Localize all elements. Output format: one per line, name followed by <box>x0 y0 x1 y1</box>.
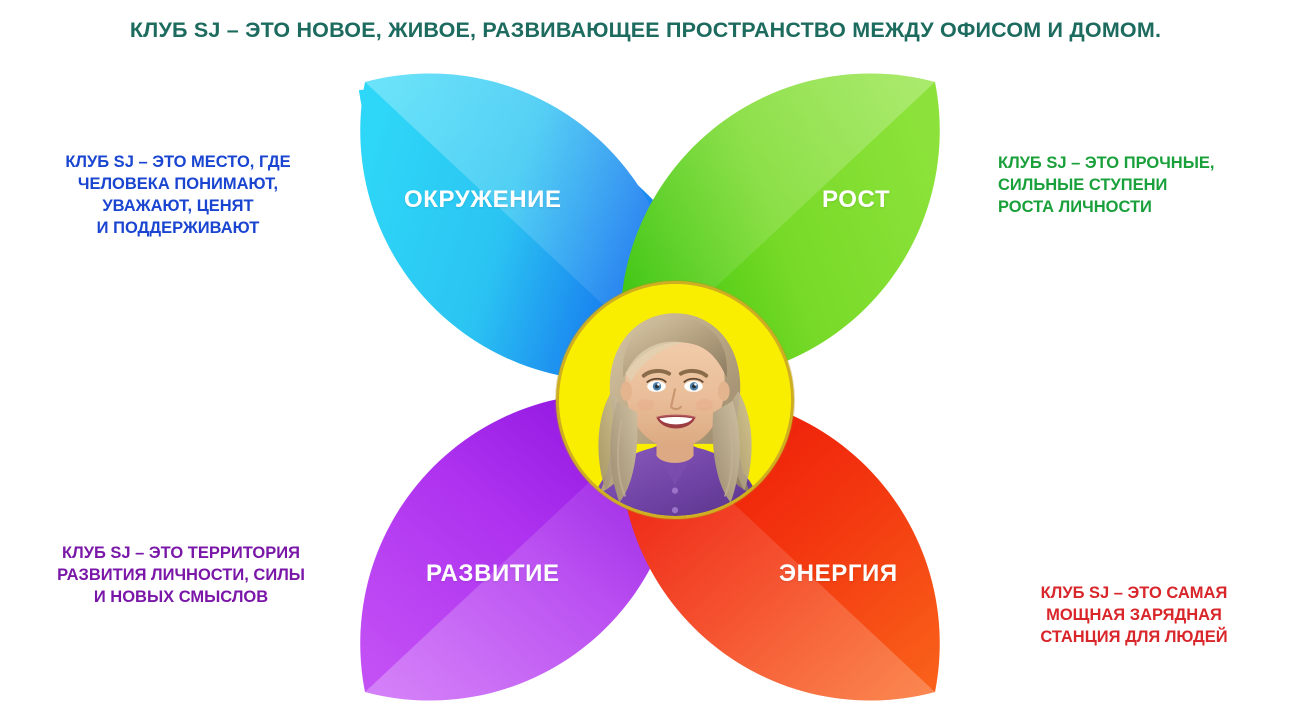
caption-energy: КЛУБ SJ – ЭТО САМАЯ МОЩНАЯ ЗАРЯДНАЯ СТАН… <box>990 583 1278 649</box>
portrait-photo <box>559 284 791 516</box>
infographic-canvas: КЛУБ SJ – ЭТО НОВОЕ, ЖИВОЕ, РАЗВИВАЮЩЕЕ … <box>0 0 1291 727</box>
page-title: КЛУБ SJ – ЭТО НОВОЕ, ЖИВОЕ, РАЗВИВАЮЩЕЕ … <box>0 18 1291 43</box>
center-portrait-circle[interactable] <box>556 281 794 519</box>
caption-development: КЛУБ SJ – ЭТО ТЕРРИТОРИЯ РАЗВИТИЯ ЛИЧНОС… <box>22 543 340 609</box>
caption-environment: КЛУБ SJ – ЭТО МЕСТО, ГДЕ ЧЕЛОВЕКА ПОНИМА… <box>18 152 338 240</box>
caption-growth: КЛУБ SJ – ЭТО ПРОЧНЫЕ, СИЛЬНЫЕ СТУПЕНИ Р… <box>998 153 1278 219</box>
